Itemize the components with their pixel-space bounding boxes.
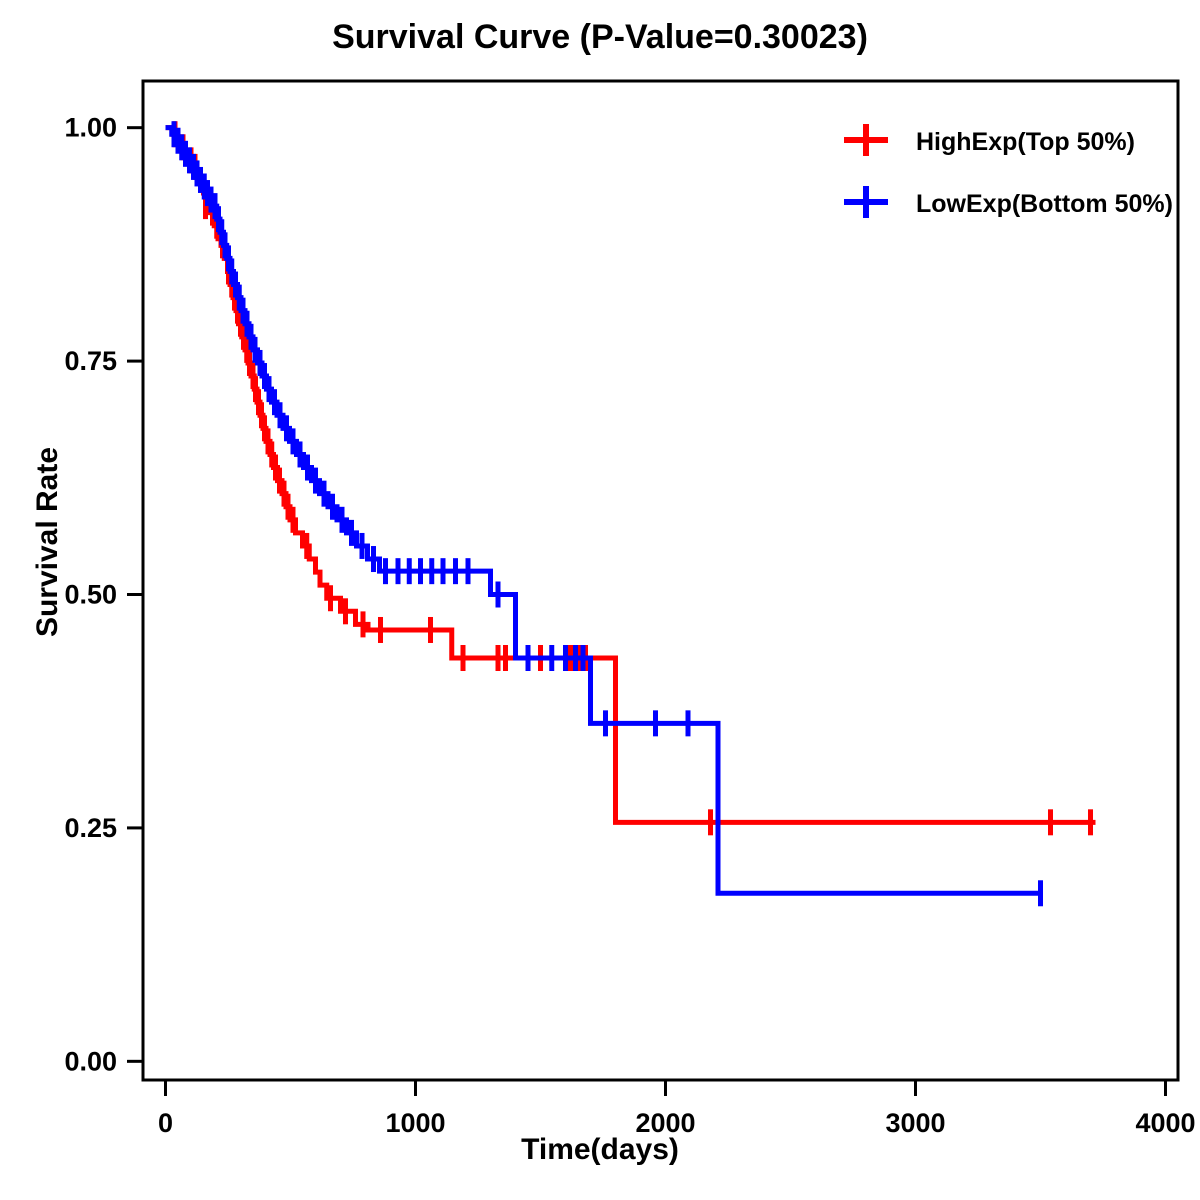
x-axis-ticks: 01000200030004000 bbox=[158, 1080, 1196, 1138]
panel-border bbox=[143, 81, 1178, 1080]
x-tick-label: 4000 bbox=[1135, 1108, 1195, 1138]
survival-curve-figure: Survival Curve (P-Value=0.30023) Surviva… bbox=[0, 0, 1200, 1200]
chart-legend: HighExp(Top 50%)LowExp(Bottom 50%) bbox=[844, 124, 1173, 218]
y-tick-label: 1.00 bbox=[64, 113, 117, 143]
y-tick-label: 0.75 bbox=[64, 346, 117, 376]
y-axis-ticks: 0.000.250.500.751.00 bbox=[64, 113, 143, 1077]
x-tick-label: 2000 bbox=[635, 1108, 695, 1138]
y-tick-label: 0.25 bbox=[64, 813, 117, 843]
legend-label: LowExp(Bottom 50%) bbox=[916, 190, 1173, 218]
step-line bbox=[166, 128, 1044, 894]
x-tick-label: 0 bbox=[158, 1108, 173, 1138]
legend-entry-highexp[interactable]: HighExp(Top 50%) bbox=[844, 124, 1135, 156]
panel-frame bbox=[143, 81, 1178, 1080]
legend-entry-lowexp[interactable]: LowExp(Bottom 50%) bbox=[844, 186, 1173, 218]
y-tick-label: 0.50 bbox=[64, 580, 117, 610]
x-tick-label: 1000 bbox=[385, 1108, 445, 1138]
legend-label: HighExp(Top 50%) bbox=[916, 128, 1135, 156]
y-tick-label: 0.00 bbox=[64, 1046, 117, 1076]
series-layer bbox=[166, 121, 1096, 906]
series-lowexp bbox=[166, 121, 1044, 906]
x-tick-label: 3000 bbox=[885, 1108, 945, 1138]
plot-area: 01000200030004000 0.000.250.500.751.00 H… bbox=[0, 0, 1200, 1200]
